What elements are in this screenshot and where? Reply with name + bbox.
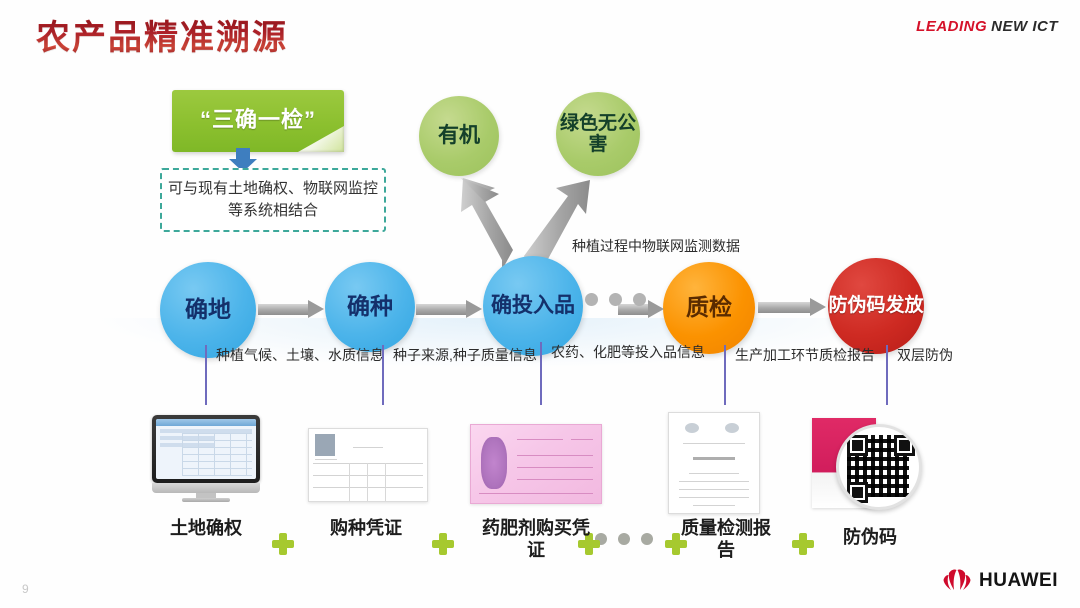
invoice-line [517,455,593,456]
imac-screen [156,419,256,479]
flow-dot [633,293,646,306]
invoice-line [517,479,593,480]
page-title: 农产品精准溯源 [36,10,288,59]
step-caption-confirm-land: 种植气候、土壤、水质信息 [205,345,384,366]
outcome-circle-green-pollution-free: 绿色无公害 [556,92,640,176]
up-arrow-to-organic-icon [455,178,515,270]
invoice-line [571,439,593,440]
process-circle-confirm-inputs[interactable]: 确投入品 [483,256,583,356]
slide-canvas: 农产品精准溯源 LEADINGNEW ICT “三确一检” 可与现有土地确权、物… [0,0,1080,608]
certificate-line [679,481,749,482]
certificate-title-line [693,457,735,460]
huawei-wordmark: HUAWEI [979,570,1058,592]
integration-callout-text: 可与现有土地确权、物联网监控等系统相结合 [162,178,384,222]
certificate-line [679,497,749,498]
receipt-divider [367,463,368,501]
invoice-line [479,493,593,494]
certificate-line [679,489,749,490]
certificate-seal [685,423,699,433]
receipt-logo-block [315,434,335,456]
connector-line-seed [382,345,384,405]
plus-separator-icon [792,533,814,555]
invoice-line [517,467,593,468]
receipt-line [313,475,423,476]
artifact-dot [618,533,630,545]
flow-dots-middle [585,293,646,306]
plus-separator-icon [272,533,294,555]
step-caption-confirm-seed: 种子来源,种子质量信息 [382,345,537,366]
process-circle-quality-check[interactable]: 质检 [663,262,755,354]
receipt-line [313,463,423,464]
pink-invoice-icon [470,424,602,504]
connector-line-qc [724,345,726,405]
iot-monitoring-note-text: 种植过程中物联网监测数据 [572,238,740,254]
certificate-line [693,505,735,506]
plus-separator-icon [432,533,454,555]
imac-chin [152,483,260,493]
connector-line-land [205,345,207,405]
outcome-circle-organic: 有机 [419,96,499,176]
artifact-label-anticounterfeit-code: 防伪码 [820,527,920,549]
process-circle-anticounterfeit-code[interactable]: 防伪码发放 [828,258,924,354]
receipt-line [313,487,423,488]
certificate-line [689,473,739,474]
huawei-petal-icon [942,568,972,594]
imac-base [182,498,230,502]
connector-line-inputs [540,342,542,405]
flow-arrow-seed-to-inputs [416,300,482,318]
brand-tagline: LEADINGNEW ICT [916,18,1058,35]
magnifier-lens-icon [836,424,922,510]
flow-arrow-qc-to-code [758,298,826,316]
invoice-stamp [481,437,507,489]
imac-titlebar [156,419,256,426]
three-confirm-banner: “三确一检” [172,90,344,152]
step-caption-quality-check: 生产加工环节质检报告 [724,345,875,366]
flow-dot [609,293,622,306]
receipt-line [315,459,337,460]
huawei-logo: HUAWEI [942,568,1058,594]
qr-finder-marker [847,482,868,503]
receipt-document-icon [308,428,428,502]
process-circle-confirm-land[interactable]: 确地 [160,262,256,358]
flow-dot [585,293,598,306]
invoice-line [517,439,563,440]
artifact-dot [641,533,653,545]
imac-monitor-icon [152,415,260,501]
imac-bezel [152,415,260,483]
receipt-divider [349,463,350,501]
receipt-divider [385,463,386,501]
step-caption-anticounterfeit: 双层防伪 [886,345,953,366]
brand-newict-text: NEW ICT [991,18,1058,35]
iot-monitoring-note: 种植过程中物联网监测数据 [572,236,740,256]
artifact-label-land-certificate: 土地确权 [160,518,252,540]
brand-leading-text: LEADING [916,18,987,35]
step-caption-confirm-inputs: 农药、化肥等投入品信息 [540,342,705,363]
artifact-label-seed-receipt: 购种凭证 [320,518,412,540]
artifact-label-fertilizer-receipt: 药肥剂购买凭证 [476,518,596,561]
qr-code-icon [812,418,918,512]
integration-callout-box: 可与现有土地确权、物联网监控等系统相结合 [160,168,386,232]
qr-finder-marker [847,435,868,456]
process-circle-confirm-seed[interactable]: 确种 [325,262,415,352]
qr-finder-marker [894,435,915,456]
connector-line-code [886,345,888,405]
flow-arrow-land-to-seed [258,300,324,318]
certificate-document-icon [668,412,760,514]
certificate-seal [725,423,739,433]
artifact-label-quality-report: 质量检测报告 [680,518,772,561]
page-number: 9 [22,582,29,596]
certificate-line [683,443,745,444]
receipt-line [353,447,383,448]
artifact-dots [595,533,653,545]
imac-table-grid [182,433,252,476]
